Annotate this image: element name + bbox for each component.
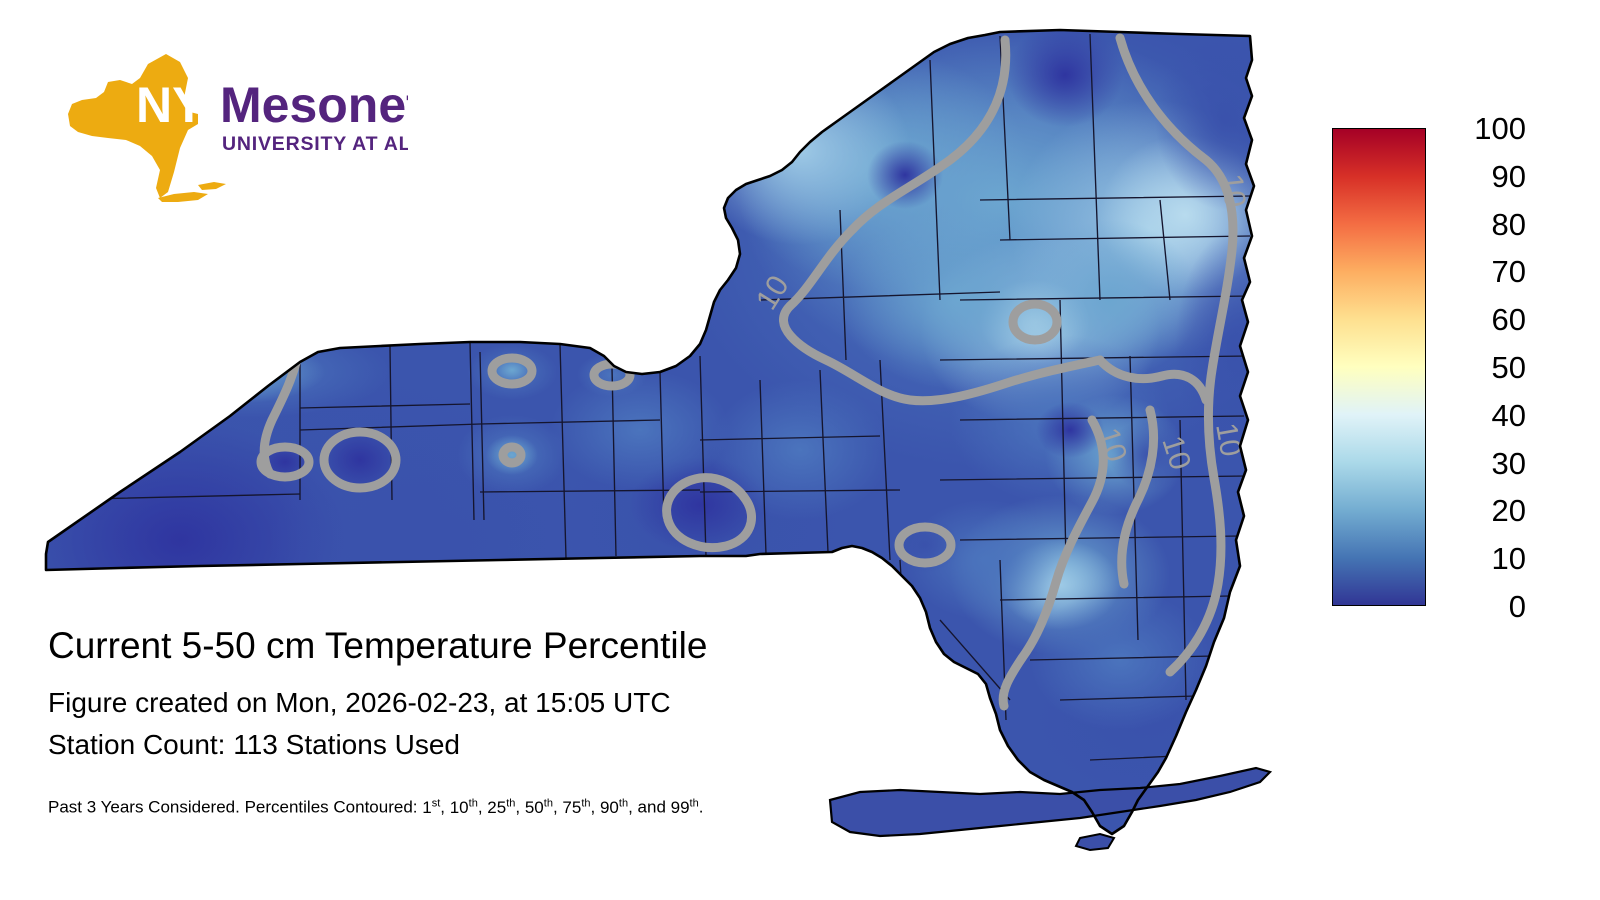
- figure-created-timestamp: Figure created on Mon, 2026-02-23, at 15…: [48, 682, 1108, 724]
- percentile-colorbar: [1332, 128, 1426, 606]
- colorbar-tick-labels: 1009080706050403020100: [1440, 108, 1560, 628]
- colorbar-tick-30: 30: [1440, 448, 1526, 479]
- colorbar-tick-60: 60: [1440, 304, 1526, 335]
- station-count-text: Station Count: 113 Stations Used: [48, 724, 1108, 766]
- colorbar-tick-10: 10: [1440, 543, 1526, 574]
- colorbar-gradient: [1333, 129, 1425, 605]
- caption-block: Current 5-50 cm Temperature Percentile F…: [48, 620, 1108, 821]
- percentile-ordinal: 75th: [562, 798, 590, 817]
- percentile-ordinal: 99th: [671, 798, 699, 817]
- colorbar-tick-20: 20: [1440, 495, 1526, 526]
- percentile-ordinal: 50th: [525, 798, 553, 817]
- percentile-ordinal: 1st: [422, 798, 440, 817]
- contour-label: 10: [1215, 172, 1251, 209]
- colorbar-tick-90: 90: [1440, 161, 1526, 192]
- colorbar-tick-80: 80: [1440, 209, 1526, 240]
- colorbar-tick-0: 0: [1440, 591, 1526, 622]
- figure-canvas: NYS Mesonet UNIVERSITY AT ALBANY: [0, 0, 1600, 900]
- percentile-ordinal: 25th: [487, 798, 515, 817]
- page-title: Current 5-50 cm Temperature Percentile: [48, 620, 1108, 672]
- colorbar-tick-40: 40: [1440, 400, 1526, 431]
- percentile-ordinal: 90th: [600, 798, 628, 817]
- contour-note: Past 3 Years Considered. Percentiles Con…: [48, 790, 1108, 821]
- colorbar-tick-100: 100: [1440, 113, 1526, 144]
- colorbar-tick-50: 50: [1440, 352, 1526, 383]
- percentile-ordinal: 10th: [450, 798, 478, 817]
- colorbar-tick-70: 70: [1440, 256, 1526, 287]
